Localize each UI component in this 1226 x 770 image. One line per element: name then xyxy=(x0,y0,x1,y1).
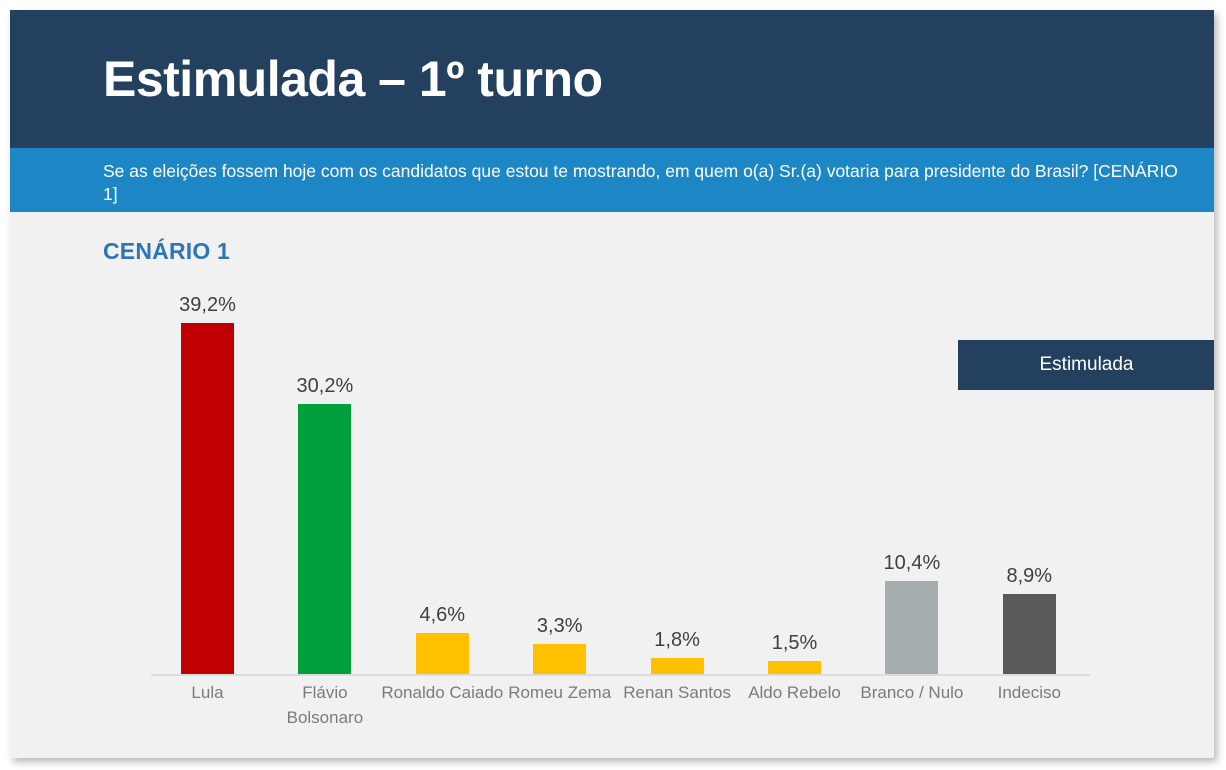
bar-value-label: 39,2% xyxy=(151,294,264,317)
bar-value-label: 10,4% xyxy=(855,552,968,575)
x-axis-category-label: Branco / Nulo xyxy=(849,681,974,706)
bar[interactable] xyxy=(181,323,234,674)
subtitle-band: Se as eleições fossem hoje com os candid… xyxy=(10,148,1214,212)
x-axis-category-label: Ronaldo Caiado xyxy=(380,681,505,706)
bar[interactable] xyxy=(533,644,586,674)
bar-value-label: 1,5% xyxy=(738,632,851,655)
survey-question: Se as eleições fossem hoje com os candid… xyxy=(103,160,1183,207)
bar-value-label: 3,3% xyxy=(503,615,616,638)
x-axis-category-label: Renan Santos xyxy=(615,681,740,706)
bar-value-label: 1,8% xyxy=(621,629,734,652)
slide: Estimulada – 1º turno Se as eleições fos… xyxy=(10,10,1214,758)
bar-value-label: 4,6% xyxy=(386,604,499,627)
bar-value-label: 30,2% xyxy=(268,375,381,398)
bar[interactable] xyxy=(1003,594,1056,674)
bar-group: 1,5%Aldo Rebelo xyxy=(738,244,851,674)
bar[interactable] xyxy=(651,658,704,674)
bar[interactable] xyxy=(298,404,351,674)
x-axis-category-label: Aldo Rebelo xyxy=(732,681,857,706)
bar-group: 1,8%Renan Santos xyxy=(621,244,734,674)
bar[interactable] xyxy=(768,661,821,674)
bar-group: 39,2%Lula xyxy=(151,244,264,674)
bar-chart-plot: 39,2%Lula30,2%Flávio Bolsonaro4,6%Ronald… xyxy=(10,212,1214,758)
bar-group: 10,4%Branco / Nulo xyxy=(855,244,968,674)
x-axis-category-label: Flávio Bolsonaro xyxy=(262,681,387,730)
x-axis-category-label: Indeciso xyxy=(967,681,1092,706)
x-axis-line xyxy=(151,674,1090,676)
bar[interactable] xyxy=(885,581,938,674)
x-axis-category-label: Lula xyxy=(145,681,270,706)
bar-group: 30,2%Flávio Bolsonaro xyxy=(268,244,381,674)
x-axis-category-label: Romeu Zema xyxy=(497,681,622,706)
bar[interactable] xyxy=(416,633,469,674)
bar-value-label: 8,9% xyxy=(973,565,1086,588)
page-title: Estimulada – 1º turno xyxy=(103,52,603,106)
header-band: Estimulada – 1º turno xyxy=(10,10,1214,148)
bar-group: 4,6%Ronaldo Caiado xyxy=(386,244,499,674)
chart-area: CENÁRIO 1 Estimulada 39,2%Lula30,2%Flávi… xyxy=(10,212,1214,758)
bar-group: 8,9%Indeciso xyxy=(973,244,1086,674)
bar-group: 3,3%Romeu Zema xyxy=(503,244,616,674)
